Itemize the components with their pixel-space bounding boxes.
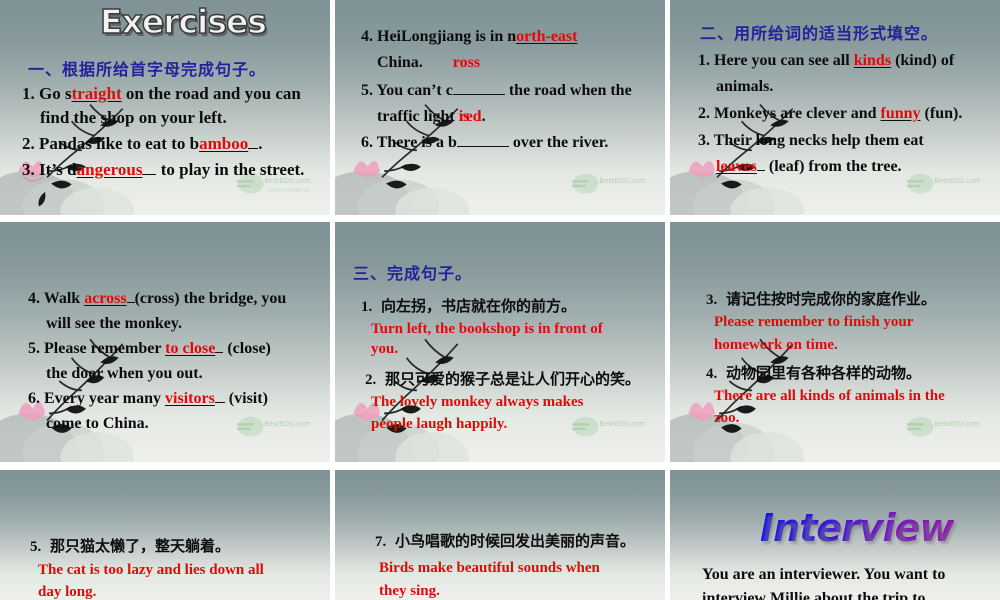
cont-pre: traffic light (377, 108, 459, 125)
slide-6-item-4-en1: There are all kinds of animals in the (714, 388, 945, 405)
item-text-pre: HeiLongjiang is in n (377, 28, 516, 45)
slide-7-item-5-en1: The cat is too lazy and lies down all (38, 562, 264, 579)
slide-3-item-1-cont: animals. (716, 78, 773, 96)
slide-4-item-4: 4. Walk across(cross) the bridge, you (28, 290, 286, 308)
item-number: 2. (698, 105, 710, 122)
slide-4-item-5: 5. Please remember to close (close) (28, 340, 271, 358)
item-text-pre: Here you can see all (714, 52, 854, 69)
item-answer: across (84, 290, 126, 307)
item-text-post: (leaf) from the tree. (765, 158, 902, 175)
item-text-pre: It’s d (39, 160, 77, 179)
slide-5-item-2-en1: The lovely monkey always makes (371, 394, 584, 411)
overlap-word-is: is (459, 108, 470, 126)
item-number: 7. (375, 534, 386, 550)
slide-2-item-4-cont: China. ross (377, 54, 480, 72)
slide-7[interactable]: 5. 那只猫太懒了，整天躺着。 The cat is too lazy and … (0, 470, 330, 600)
item-number: 6. (361, 134, 373, 151)
item-text-post: (kind) of (891, 52, 954, 69)
item-number: 1. (361, 299, 372, 315)
slide-1-item-2: 2. Pandas like to eat to bamboo. (22, 134, 262, 154)
slide-5[interactable]: BestEDU.com 三、完成句子。 1. 向左拐，书店就在你的前方。 Tur… (335, 222, 665, 462)
item-number: 2. (22, 134, 35, 153)
slide-2-item-4: 4. HeiLongjiang is in north-east (361, 28, 577, 46)
item-number: 5. (30, 539, 41, 555)
slide-2[interactable]: BestEDU.com 4. HeiLongjiang is in north-… (335, 0, 665, 215)
item-chinese: 小鸟唱歌的时候回发出美丽的声音。 (395, 532, 635, 550)
item-text-pre: Their long necks help them eat (714, 132, 924, 149)
item-text-post: (cross) the bridge, you (135, 290, 287, 307)
item-number: 1. (22, 84, 35, 103)
slide-8-item-7-en1: Birds make beautiful sounds when (379, 560, 600, 577)
item-number: 6. (28, 390, 40, 407)
slide-6-item-4: 4. 动物园里有各种各样的动物。 (706, 362, 921, 383)
overlapping-answer: isred (459, 108, 482, 126)
slide-9-body-line-2: interview Millie about the trip to (702, 590, 926, 600)
slide-3-heading: 二、用所给词的适当形式填空。 (700, 20, 938, 44)
slide-6[interactable]: BestEDU.com 3. 请记住按时完成你的家庭作业。 Please rem… (670, 222, 1000, 462)
item-text-post: on the road and you can (122, 84, 301, 103)
item-answer: traight (72, 84, 122, 103)
item-chinese: 动物园里有各种各样的动物。 (726, 364, 921, 382)
slide-1-item-1-cont: find the shop on your left. (40, 108, 227, 128)
item-text-post: over the river. (509, 134, 609, 151)
cont-text: China. (377, 54, 423, 71)
interview-title: Interview (760, 508, 954, 548)
slide-5-item-1-en1: Turn left, the bookshop is in front of (371, 321, 603, 338)
slide-4[interactable]: BestEDU.com 4. Walk across(cross) the br… (0, 222, 330, 462)
slide-3-item-3-cont: leaves (leaf) from the tree. (716, 158, 902, 176)
item-text-pre: Walk (44, 290, 84, 307)
slide-5-item-1: 1. 向左拐，书店就在你的前方。 (361, 295, 576, 316)
slide-8[interactable]: 7. 小鸟唱歌的时候回发出美丽的声音。 Birds make beautiful… (335, 470, 665, 600)
item-answer: visitors (165, 390, 215, 407)
item-number: 4. (706, 366, 717, 382)
stray-answer-ross: ross (453, 54, 480, 71)
slide-5-item-2: 2. 那只可爱的猴子总是让人们开心的笑。 (365, 368, 640, 389)
slide-3-item-2: 2. Monkeys are clever and funny (fun). (698, 105, 962, 123)
item-text-post: (visit) (225, 390, 268, 407)
item-chinese: 那只可爱的猴子总是让人们开心的笑。 (385, 370, 640, 388)
slide-1-item-3: 3. It’s dangerous to play in the street. (22, 160, 304, 180)
item-answer: kinds (854, 52, 891, 69)
slide-9[interactable]: Interview You are an interviewer. You wa… (670, 470, 1000, 600)
slide-3-item-3: 3. Their long necks help them eat (698, 132, 924, 150)
slide-4-item-4-cont: will see the monkey. (46, 315, 182, 333)
slide-8-item-7: 7. 小鸟唱歌的时候回发出美丽的声音。 (375, 530, 635, 551)
item-number: 5. (28, 340, 40, 357)
item-text-pre: There is a b (377, 134, 457, 151)
slide-5-heading: 三、完成句子。 (353, 260, 472, 284)
slide-6-item-3-en1: Please remember to finish your (714, 314, 913, 331)
item-text-pre: Go s (39, 84, 72, 103)
item-answer: leaves (716, 158, 757, 175)
slide-1-heading: 一、根据所给首字母完成句子。 (28, 56, 266, 80)
item-answer: angerous (77, 160, 143, 179)
item-number: 5. (361, 82, 373, 99)
slide-7-item-5-en2: day long. (38, 584, 96, 600)
item-text-post: the road when the (505, 82, 632, 99)
slide-deck: BestEDU.com \u2014 \u2014 \u2014 Exercis… (0, 0, 1000, 600)
item-text-pre: Monkeys are clever and (714, 105, 881, 122)
slide-5-item-1-en2: you. (371, 341, 398, 358)
slide-3[interactable]: BestEDU.com 二、用所给词的适当形式填空。 1. Here you c… (670, 0, 1000, 215)
item-answer: amboo (199, 134, 248, 153)
slide-7-item-5: 5. 那只猫太懒了，整天躺着。 (30, 535, 230, 556)
slide-1-item-1: 1. Go straight on the road and you can (22, 84, 301, 104)
item-text-pre: Every year many (44, 390, 165, 407)
slide-6-item-3-en2: homework on time. (714, 337, 838, 354)
slide-2-item-5: 5. You can’t c the road when the (361, 82, 632, 100)
slide-2-item-5-cont: traffic light isred. (377, 108, 486, 126)
item-answer: orth-east (516, 28, 577, 45)
item-chinese: 请记住按时完成你的家庭作业。 (726, 290, 936, 308)
slide-8-item-7-en2: they sing. (379, 583, 440, 600)
item-number: 3. (698, 132, 710, 149)
item-number: 2. (365, 372, 376, 388)
item-chinese: 向左拐，书店就在你的前方。 (381, 297, 576, 315)
item-number: 3. (22, 160, 35, 179)
item-number: 1. (698, 52, 710, 69)
item-number: 4. (361, 28, 373, 45)
slide-1-title: Exercises (100, 4, 266, 40)
slide-4-item-6: 6. Every year many visitors (visit) (28, 390, 268, 408)
item-text-post: (close) (223, 340, 271, 357)
item-text-pre: Pandas like to eat to b (39, 134, 199, 153)
slide-4-item-6-cont: come to China. (46, 415, 149, 433)
item-number: 3. (706, 292, 717, 308)
slide-2-item-6: 6. There is a b over the river. (361, 134, 608, 152)
item-chinese: 那只猫太懒了，整天躺着。 (50, 537, 230, 555)
item-text-post: . (258, 134, 262, 153)
slide-9-body-line-1: You are an interviewer. You want to (702, 566, 945, 584)
slide-3-item-1: 1. Here you can see all kinds (kind) of (698, 52, 954, 70)
slide-6-item-4-en2: zoo. (714, 410, 739, 427)
item-number: 4. (28, 290, 40, 307)
slide-1[interactable]: BestEDU.com \u2014 \u2014 \u2014 Exercis… (0, 0, 330, 215)
item-answer: to close (165, 340, 215, 357)
item-answer: funny (881, 105, 921, 122)
item-text-pre: Please remember (44, 340, 165, 357)
item-text-pre: You can’t c (376, 82, 452, 99)
item-text-post: to play in the street. (156, 160, 304, 179)
cont-post: . (482, 108, 486, 125)
slide-4-item-5-cont: the door when you out. (46, 365, 203, 383)
slide-5-item-2-en2: people laugh happily. (371, 416, 507, 433)
item-text-post: (fun). (921, 105, 963, 122)
slide-6-item-3: 3. 请记住按时完成你的家庭作业。 (706, 288, 936, 309)
